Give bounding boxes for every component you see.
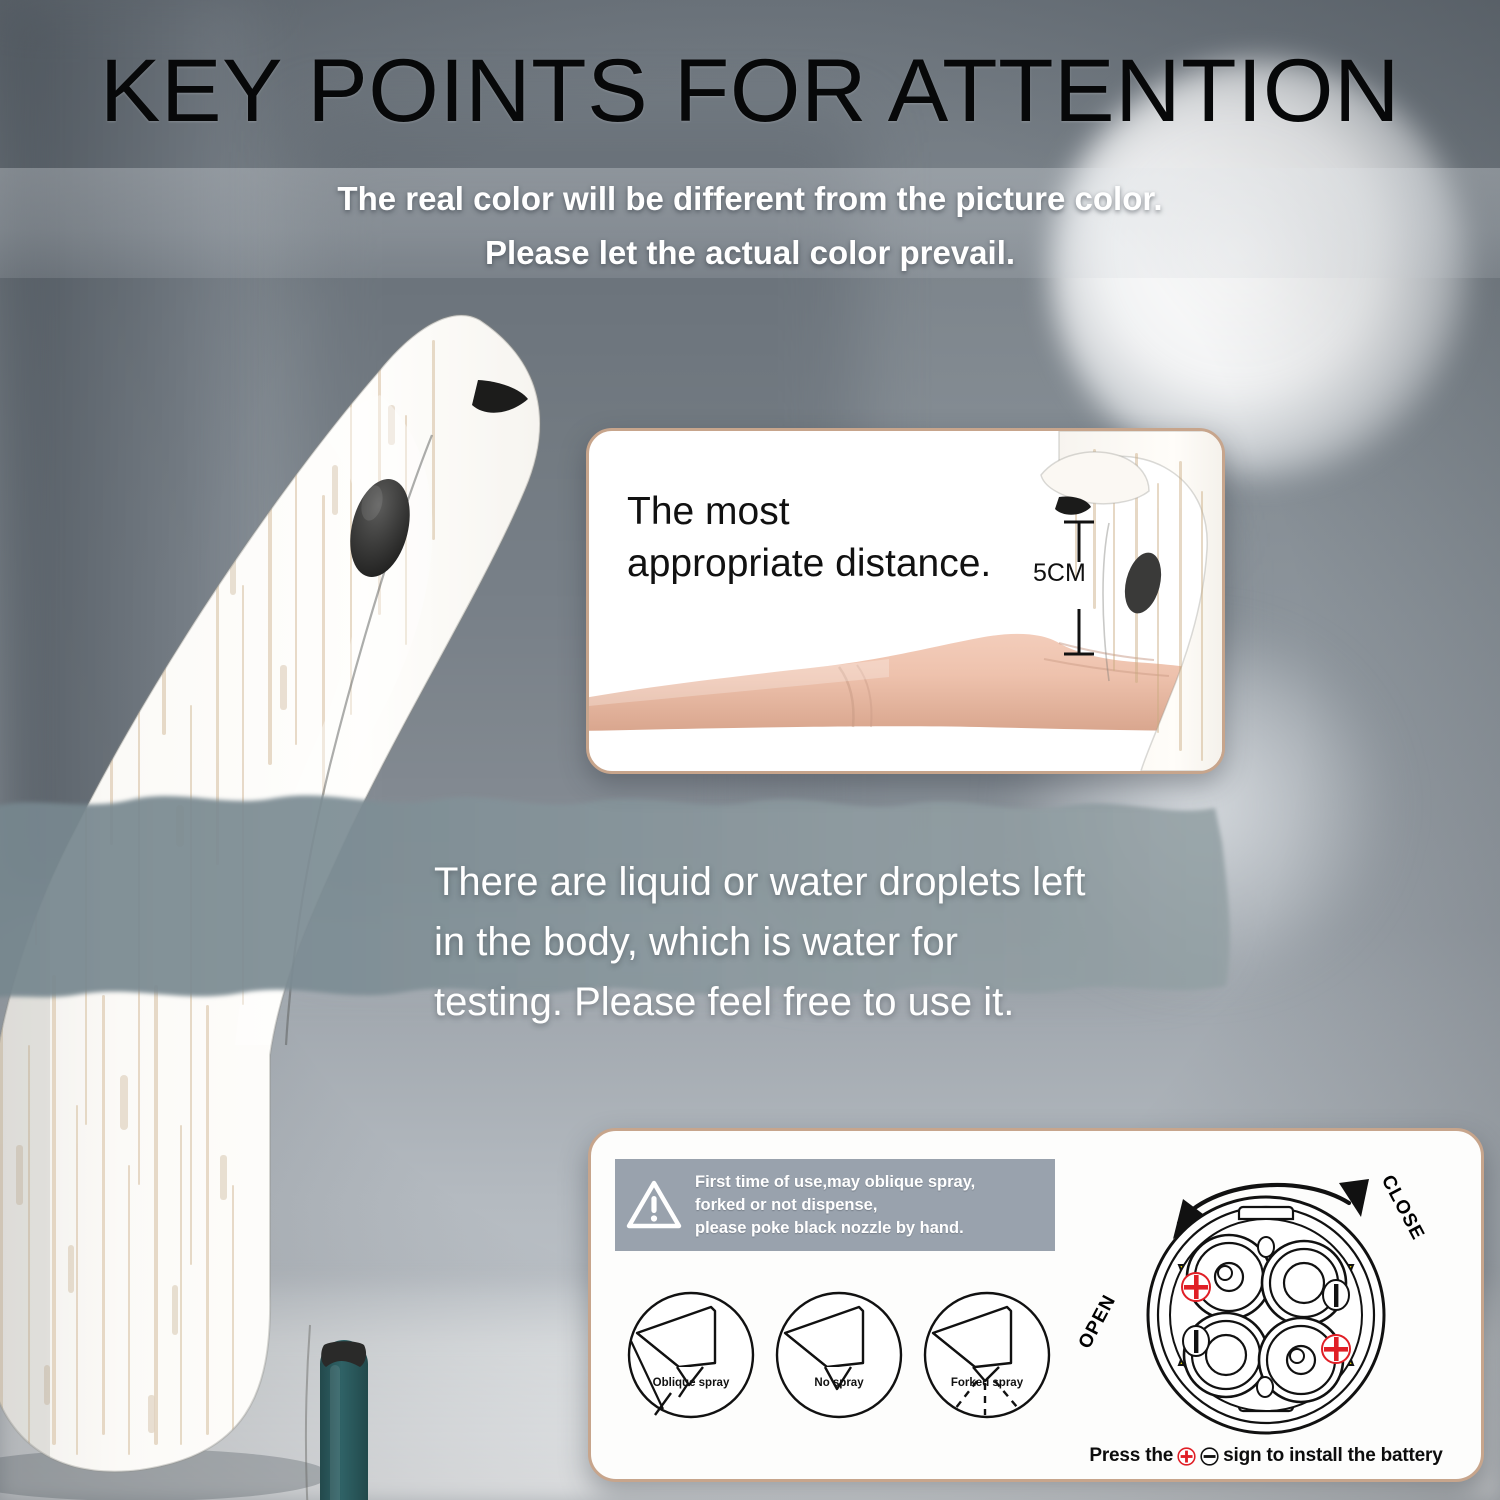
instruction-card: First time of use,may oblique spray, for… — [588, 1128, 1484, 1482]
warning-text: First time of use,may oblique spray, for… — [695, 1171, 975, 1240]
subtitle-line-1: The real color will be different from th… — [337, 180, 1162, 217]
subtitle-line-2: Please let the actual color prevail. — [0, 226, 1500, 280]
infographic-canvas: KEY POINTS FOR ATTENTION The real color … — [0, 0, 1500, 1500]
battery-caption-after: sign to install the battery — [1223, 1445, 1442, 1467]
water-note-line-1: There are liquid or water droplets left — [434, 852, 1224, 912]
battery-caption-before: Press the — [1089, 1445, 1173, 1467]
distance-card: The most appropriate distance. — [586, 428, 1225, 774]
spray-label-none: No spray — [767, 1377, 911, 1389]
spray-label-forked: Forked spray — [915, 1377, 1059, 1389]
distance-measure-label: 5CM — [1033, 559, 1086, 588]
plus-sign-icon — [1177, 1447, 1196, 1466]
page-title: KEY POINTS FOR ATTENTION — [0, 46, 1500, 135]
spray-diagram-row: Oblique spray No spray — [619, 1289, 1059, 1429]
water-note-text: There are liquid or water droplets left … — [434, 852, 1224, 1032]
water-note-line-3: testing. Please feel free to use it. — [434, 972, 1224, 1032]
spray-diagram-forked: Forked spray — [915, 1289, 1059, 1429]
warning-banner: First time of use,may oblique spray, for… — [615, 1159, 1055, 1251]
battery-caption: Press the sign to install the battery — [1061, 1445, 1471, 1467]
warning-triangle-icon — [625, 1176, 683, 1234]
spray-label-oblique: Oblique spray — [619, 1377, 763, 1389]
spray-diagram-oblique: Oblique spray — [619, 1289, 763, 1429]
distance-illustration — [589, 431, 1222, 771]
water-note-line-2: in the body, which is water for — [434, 912, 1224, 972]
spray-diagram-none: No spray — [767, 1289, 911, 1429]
battery-compartment-diagram: OPEN CLOSE — [1061, 1145, 1471, 1465]
page-subtitle: The real color will be different from th… — [0, 172, 1500, 280]
minus-sign-icon — [1200, 1447, 1219, 1466]
